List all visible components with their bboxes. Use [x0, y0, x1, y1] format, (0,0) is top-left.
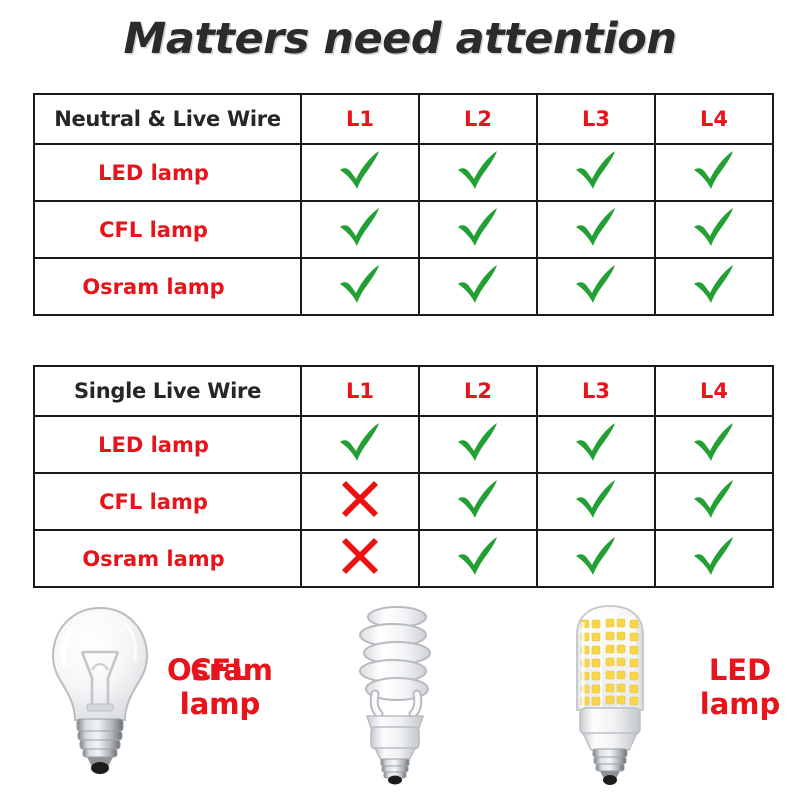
table-row: LED lamp: [34, 416, 773, 473]
cell-mark: [537, 416, 655, 473]
table-header-row: Neutral & Live Wire L1 L2 L3 L4: [34, 94, 773, 144]
check-icon: [455, 535, 501, 577]
table-neutral-live-wire: Neutral & Live Wire L1 L2 L3 L4 LED lamp…: [33, 93, 774, 316]
row-label-cfl: CFL lamp: [34, 201, 301, 258]
row-label-osram: Osram lamp: [34, 258, 301, 315]
table-header-row: Single Live Wire L1 L2 L3 L4: [34, 366, 773, 416]
lamp-caption-led: LED lamp: [665, 654, 800, 721]
check-icon: [691, 263, 737, 305]
column-header-l3: L3: [537, 94, 655, 144]
table-row: LED lamp: [34, 144, 773, 201]
lamp-group-led: LED lamp: [540, 592, 800, 800]
check-icon: [337, 149, 383, 191]
cell-mark: [537, 144, 655, 201]
check-icon: [337, 421, 383, 463]
column-header-l2: L2: [419, 94, 537, 144]
cell-mark: [419, 144, 537, 201]
cell-mark: [301, 258, 419, 315]
cross-icon: [339, 535, 381, 577]
row-label-osram: Osram lamp: [34, 530, 301, 587]
cell-mark: [655, 144, 773, 201]
column-header-l4: L4: [655, 366, 773, 416]
column-header-l2: L2: [419, 366, 537, 416]
page-title: Matters need attention: [0, 14, 800, 64]
row-label-cfl: CFL lamp: [34, 473, 301, 530]
check-icon: [573, 421, 619, 463]
column-header-l3: L3: [537, 366, 655, 416]
cell-mark: [301, 201, 419, 258]
cell-mark: [655, 416, 773, 473]
row-label-led: LED lamp: [34, 144, 301, 201]
lamp-legend-strip: Osram lamp: [0, 592, 800, 800]
cell-mark: [537, 201, 655, 258]
table-header-title: Single Live Wire: [34, 366, 301, 416]
cell-mark: [419, 258, 537, 315]
check-icon: [691, 149, 737, 191]
table-row: CFL lamp: [34, 201, 773, 258]
lamp-caption-cfl: CFL lamp: [145, 654, 295, 721]
cell-mark: [655, 201, 773, 258]
check-icon: [573, 535, 619, 577]
column-header-l4: L4: [655, 94, 773, 144]
cell-mark: [301, 144, 419, 201]
cell-mark: [419, 530, 537, 587]
table-single-live-wire: Single Live Wire L1 L2 L3 L4 LED lamp CF…: [33, 365, 774, 588]
led-corn-bulb-icon: [555, 600, 665, 793]
cell-mark: [655, 530, 773, 587]
check-icon: [691, 206, 737, 248]
cell-mark: [537, 258, 655, 315]
check-icon: [691, 421, 737, 463]
table-row: CFL lamp: [34, 473, 773, 530]
row-label-led: LED lamp: [34, 416, 301, 473]
check-icon: [573, 478, 619, 520]
incandescent-bulb-icon: [40, 600, 160, 785]
check-icon: [455, 206, 501, 248]
cell-mark: [419, 473, 537, 530]
check-icon: [455, 421, 501, 463]
check-icon: [573, 149, 619, 191]
column-header-l1: L1: [301, 94, 419, 144]
check-icon: [455, 263, 501, 305]
cell-mark: [537, 473, 655, 530]
table-row: Osram lamp: [34, 258, 773, 315]
cell-mark: [301, 530, 419, 587]
cell-mark: [655, 473, 773, 530]
check-icon: [337, 263, 383, 305]
check-icon: [691, 478, 737, 520]
lamp-group-cfl: CFL lamp: [280, 592, 540, 800]
check-icon: [573, 263, 619, 305]
check-icon: [337, 206, 383, 248]
cell-mark: [301, 473, 419, 530]
table-row: Osram lamp: [34, 530, 773, 587]
cell-mark: [537, 530, 655, 587]
cross-icon: [339, 478, 381, 520]
cell-mark: [419, 416, 537, 473]
cfl-spiral-bulb-icon: [335, 600, 455, 790]
check-icon: [691, 535, 737, 577]
check-icon: [455, 149, 501, 191]
check-icon: [573, 206, 619, 248]
cell-mark: [419, 201, 537, 258]
column-header-l1: L1: [301, 366, 419, 416]
check-icon: [455, 478, 501, 520]
cell-mark: [301, 416, 419, 473]
cell-mark: [655, 258, 773, 315]
table-header-title: Neutral & Live Wire: [34, 94, 301, 144]
